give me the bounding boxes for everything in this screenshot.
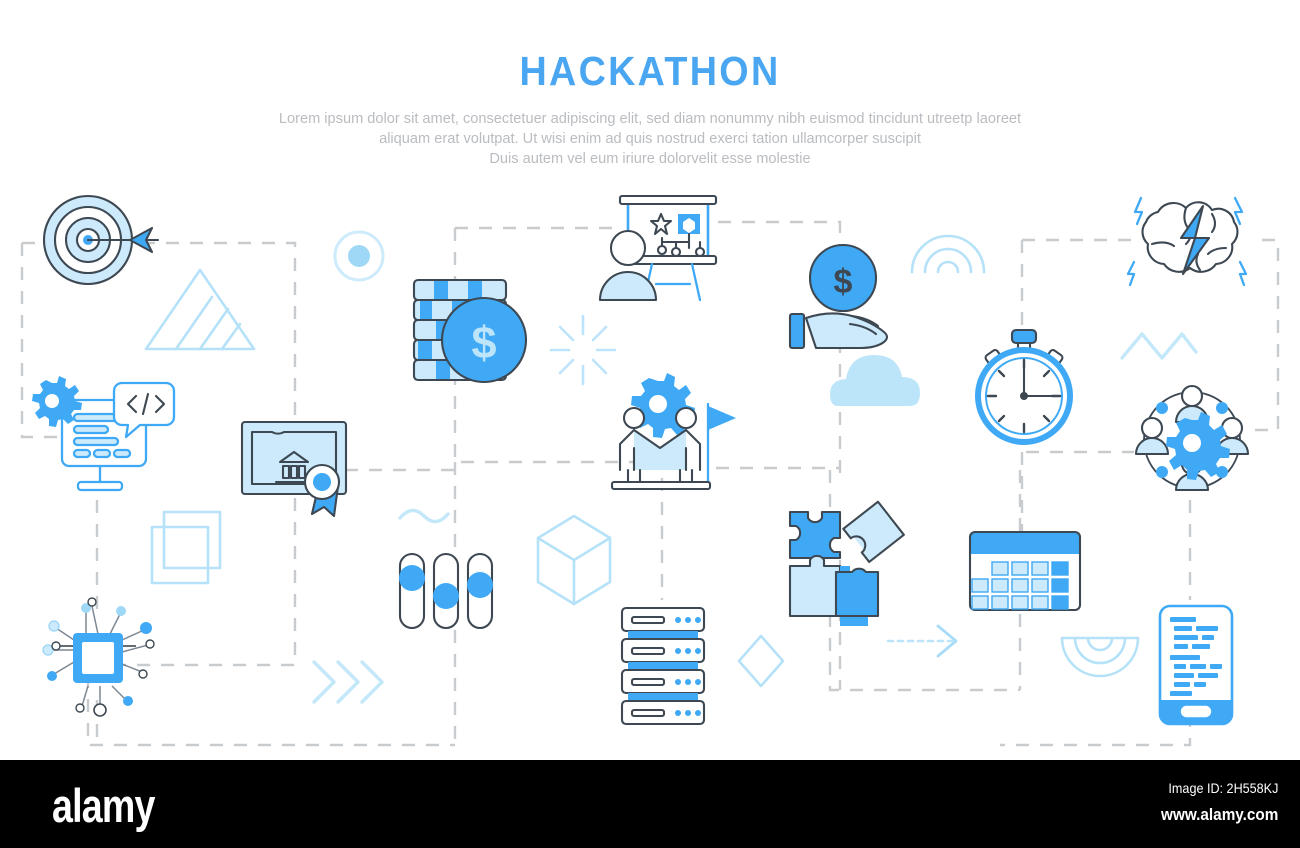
presentation-person-icon bbox=[600, 196, 716, 300]
alamy-url-label: www.alamy.com bbox=[1161, 805, 1278, 825]
cube-outline-icon bbox=[538, 516, 610, 604]
banner-canvas: HACKATHON Lorem ipsum dolor sit amet, co… bbox=[0, 0, 1300, 848]
sliders-settings-icon bbox=[399, 554, 493, 628]
smartphone-code-icon bbox=[1160, 606, 1232, 724]
svg-text:$: $ bbox=[471, 317, 496, 368]
server-rack-icon bbox=[622, 608, 704, 724]
zigzag-line-icon bbox=[1122, 334, 1196, 358]
svg-text:$: $ bbox=[834, 263, 853, 301]
team-network-gear-icon bbox=[1136, 386, 1248, 490]
puzzle-pieces-icon bbox=[790, 502, 904, 626]
arrow-right-icon bbox=[888, 626, 956, 656]
footer-meta: Image ID: 2H558KJ www.alamy.com bbox=[1148, 780, 1278, 825]
cloud-shape-icon bbox=[830, 355, 920, 406]
target-dartboard-icon bbox=[44, 196, 158, 284]
code-monitor-gear-icon bbox=[32, 376, 174, 490]
pyramid-shape-icon bbox=[146, 270, 254, 349]
rainbow-arcs-icon bbox=[912, 236, 984, 272]
chevrons-right-icon bbox=[314, 662, 382, 702]
overlapping-squares-icon bbox=[152, 512, 220, 583]
icon-collage: .ol{fill:none;stroke:#3D4852;stroke-widt… bbox=[0, 0, 1300, 760]
alamy-footer-bar: alamy Image ID: 2H558KJ www.alamy.com bbox=[0, 760, 1300, 848]
image-id-label: Image ID: 2H558KJ bbox=[1161, 780, 1278, 796]
cpu-chip-network-icon bbox=[43, 598, 154, 716]
stopwatch-icon bbox=[978, 330, 1070, 442]
diamond-outline-icon bbox=[739, 636, 783, 686]
brainstorm-brain-icon bbox=[1128, 198, 1246, 285]
hand-coin-dollar-icon: $ bbox=[790, 245, 887, 348]
wave-line-icon bbox=[400, 510, 448, 521]
radar-arcs-icon bbox=[1062, 638, 1138, 676]
dot-circle-icon bbox=[335, 232, 383, 280]
alamy-logo: alamy bbox=[52, 778, 155, 833]
calendar-icon bbox=[970, 532, 1080, 610]
sparkle-burst-icon bbox=[551, 316, 615, 384]
teamwork-gear-flag-icon bbox=[612, 373, 736, 489]
coin-stack-dollar-icon: $ bbox=[414, 280, 526, 382]
